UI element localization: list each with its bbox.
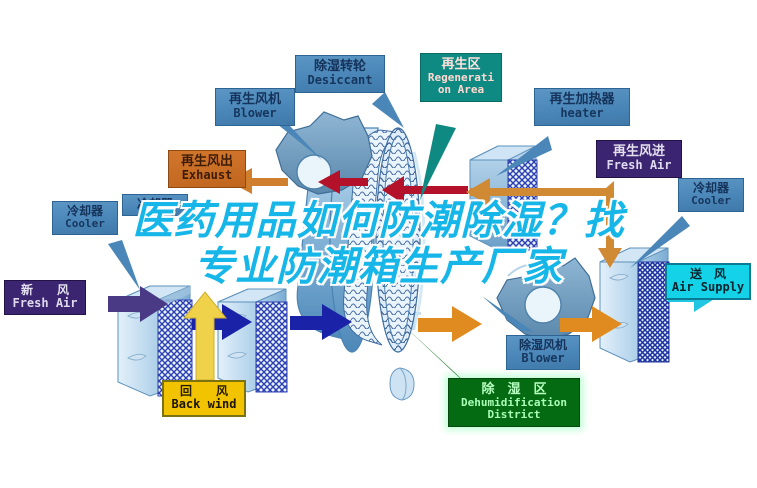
label-exhaust-en: Exhaust xyxy=(174,169,240,182)
label-back-wind: 回 风 Back wind xyxy=(162,380,246,417)
label-regeneration-area-en2: on Area xyxy=(425,84,497,96)
label-regen-heater: 再生加热器 heater xyxy=(534,88,630,126)
label-dehumidification-district: 除 湿 区 Dehumidification District xyxy=(448,378,580,427)
label-dehum-blower: 除湿风机 Blower xyxy=(506,335,580,370)
page-title-line2: 专业防潮箱生产厂家 xyxy=(0,244,757,290)
label-fresh-air-en: Fresh Air xyxy=(9,297,81,310)
label-cooler-right-cn: 冷却器 xyxy=(683,182,739,195)
label-desiccant: 除湿转轮 Desiccant xyxy=(295,55,385,93)
page-title: 医药用品如何防潮除湿？找 专业防潮箱生产厂家 xyxy=(0,198,757,290)
label-regeneration-area: 再生区 Regenerati on Area xyxy=(420,53,502,102)
label-back-wind-cn: 回 风 xyxy=(168,385,240,398)
label-regen-heater-en: heater xyxy=(540,107,624,120)
diagram-canvas: XT xyxy=(0,0,757,488)
label-regen-fresh-air-en: Fresh Air xyxy=(602,159,676,172)
label-regen-blower-cn: 再生风机 xyxy=(221,93,289,107)
label-regen-fresh-air-cn: 再生风进 xyxy=(602,145,676,159)
label-regen-blower-en: Blower xyxy=(221,107,289,120)
label-regen-fresh-air: 再生风进 Fresh Air xyxy=(596,140,682,178)
label-exhaust: 再生风出 Exhaust xyxy=(168,150,246,188)
label-exhaust-cn: 再生风出 xyxy=(174,155,240,169)
label-regeneration-area-cn: 再生区 xyxy=(425,58,497,72)
page-title-line1: 医药用品如何防潮除湿？找 xyxy=(0,198,757,244)
label-regen-blower: 再生风机 Blower xyxy=(215,88,295,126)
label-back-wind-en: Back wind xyxy=(168,398,240,411)
label-dehum-blower-en: Blower xyxy=(511,352,575,365)
label-desiccant-cn: 除湿转轮 xyxy=(301,60,379,74)
label-desiccant-en: Desiccant xyxy=(301,74,379,87)
label-dehum-district-en2: District xyxy=(454,409,574,421)
label-regen-heater-cn: 再生加热器 xyxy=(540,93,624,107)
label-dehum-blower-cn: 除湿风机 xyxy=(511,339,575,352)
label-dehum-district-cn: 除 湿 区 xyxy=(454,383,574,397)
